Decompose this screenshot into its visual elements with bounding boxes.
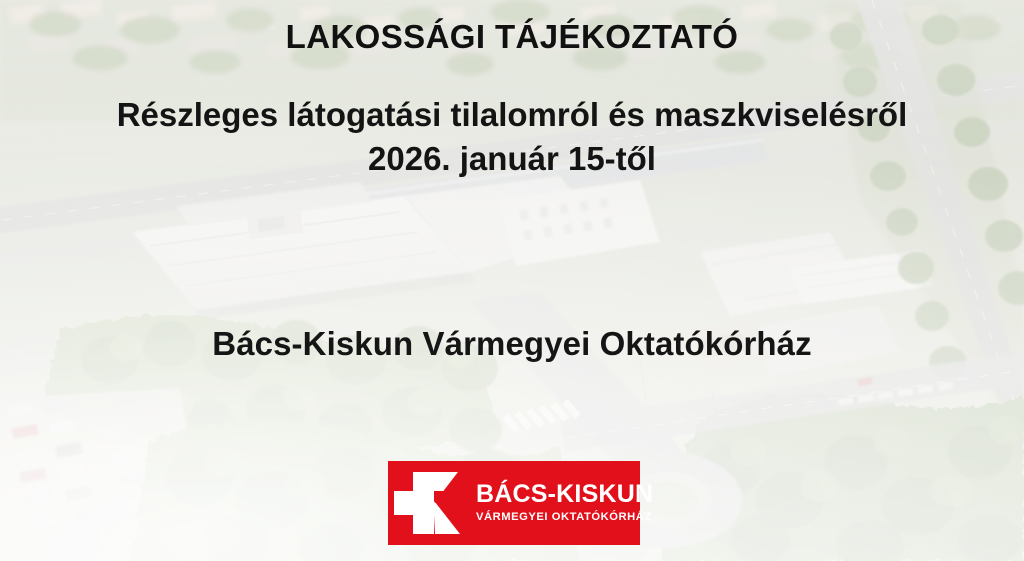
page-title: LAKOSSÁGI TÁJÉKOZTATÓ	[0, 19, 1024, 55]
announcement-subtitle: Részleges látogatási tilalomról és maszk…	[0, 93, 1024, 181]
logo-brand-name: BÁCS-KISKUN	[476, 482, 653, 507]
logo-subtitle: VÁRMEGYEI OKTATÓKÓRHÁZ	[476, 512, 653, 523]
cross-k-monogram-icon	[388, 461, 474, 545]
announcement-subtitle-line-1: Részleges látogatási tilalomról és maszk…	[0, 93, 1024, 137]
announcement-subtitle-line-2: 2026. január 15-től	[0, 137, 1024, 181]
logo-wordmark: BÁCS-KISKUN VÁRMEGYEI OKTATÓKÓRHÁZ	[474, 482, 661, 523]
hospital-logo: BÁCS-KISKUN VÁRMEGYEI OKTATÓKÓRHÁZ	[388, 461, 640, 545]
poster: LAKOSSÁGI TÁJÉKOZTATÓ Részleges látogatá…	[0, 0, 1024, 561]
institution-name: Bács-Kiskun Vármegyei Oktatókórház	[0, 325, 1024, 363]
